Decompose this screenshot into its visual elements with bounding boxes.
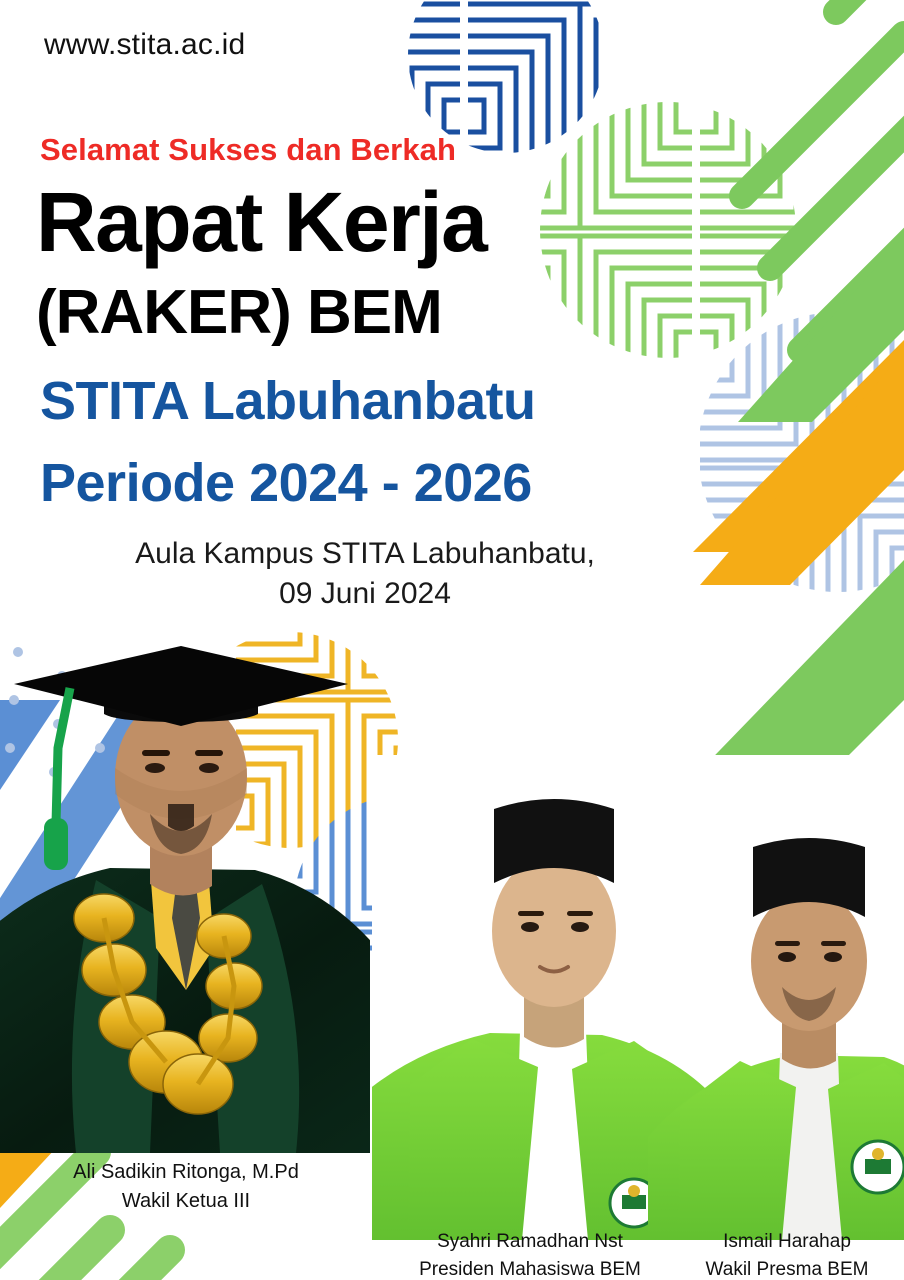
caption-vice-president: Ismail Harahap Wakil Presma BEM [672, 1228, 902, 1280]
poster-canvas: www.stita.ac.id Selamat Sukses dan Berka… [0, 0, 904, 1280]
venue-line: Aula Kampus STITA Labuhanbatu, [135, 537, 595, 570]
diagonal-stripes-green-top-extra [836, 0, 904, 12]
chevron-yellow [693, 300, 904, 552]
vice-president-role: Wakil Presma BEM [672, 1256, 902, 1280]
chevron-yellow-lower [700, 352, 904, 585]
photo-bem-leaders [372, 755, 904, 1240]
caption-rector: Ali Sadikin Ritonga, M.Pd Wakil Ketua II… [0, 1158, 372, 1216]
period-range: Periode 2024 - 2026 [40, 456, 532, 510]
badge-right [852, 1141, 904, 1193]
diagonal-stripes-green-top [742, 0, 904, 350]
event-title-line-1: Rapat Kerja [36, 180, 486, 264]
event-title-line-2: (RAKER) BEM [36, 282, 442, 344]
maze-circle-pale-blue [700, 305, 904, 595]
maze-circle-green [540, 95, 810, 365]
date-line: 09 Juni 2024 [279, 577, 451, 610]
caption-president: Syahri Ramadhan Nst Presiden Mahasiswa B… [400, 1228, 660, 1280]
photo-rector [0, 618, 370, 1153]
president-name: Syahri Ramadhan Nst [400, 1228, 660, 1256]
vice-president-name: Ismail Harahap [672, 1228, 902, 1256]
website-url: www.stita.ac.id [44, 28, 245, 62]
venue-and-date: Aula Kampus STITA Labuhanbatu, 09 Juni 2… [0, 534, 730, 613]
institution-name: STITA Labuhanbatu [40, 374, 535, 428]
rector-role: Wakil Ketua III [0, 1187, 372, 1216]
tagline: Selamat Sukses dan Berkah [40, 132, 456, 168]
wedge-green-small [738, 236, 904, 422]
rector-name: Ali Sadikin Ritonga, M.Pd [0, 1158, 372, 1187]
president-role: Presiden Mahasiswa BEM [400, 1256, 660, 1280]
